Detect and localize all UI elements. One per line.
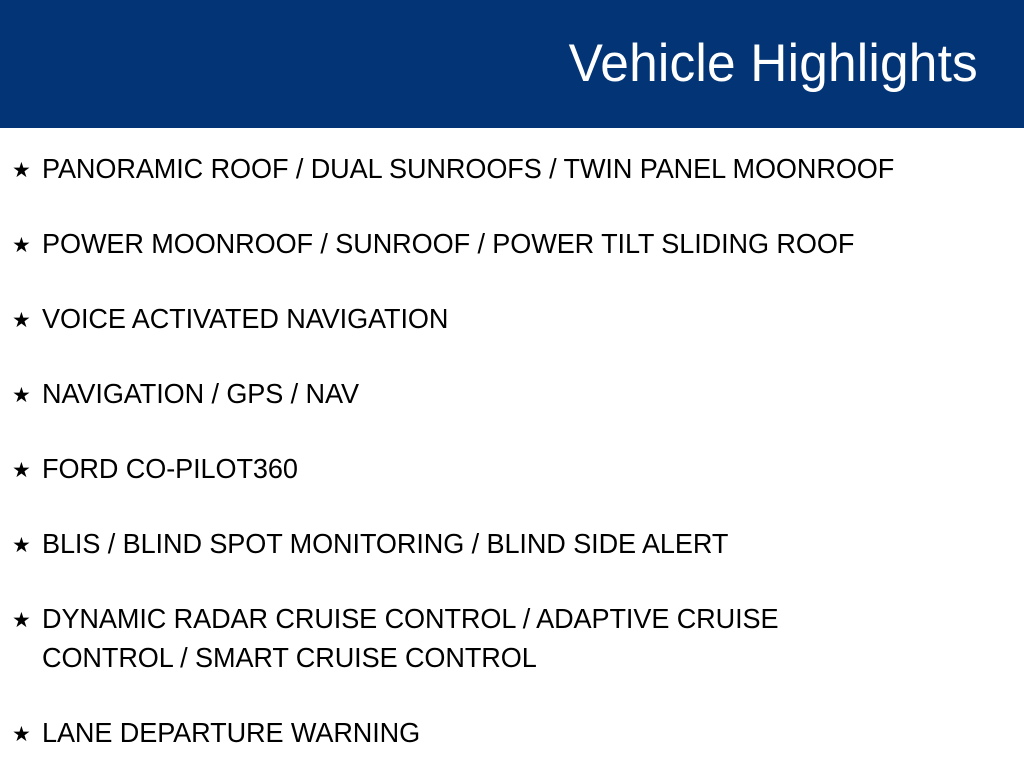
list-item: ★ DYNAMIC RADAR CRUISE CONTROL / ADAPTIV… bbox=[0, 578, 1024, 692]
star-bullet-icon: ★ bbox=[12, 278, 42, 331]
list-item: ★ POWER MOONROOF / SUNROOF / POWER TILT … bbox=[0, 203, 1024, 278]
list-item-label: PANORAMIC ROOF / DUAL SUNROOFS / TWIN PA… bbox=[42, 128, 994, 188]
list-item-label: POWER MOONROOF / SUNROOF / POWER TILT SL… bbox=[42, 203, 994, 263]
list-item: ★ FORD CO-PILOT360 bbox=[0, 428, 1024, 503]
vehicle-highlights-slide: Vehicle Highlights ★ PANORAMIC ROOF / DU… bbox=[0, 0, 1024, 768]
list-item: ★ NAVIGATION / GPS / NAV bbox=[0, 353, 1024, 428]
star-bullet-icon: ★ bbox=[12, 578, 42, 631]
star-bullet-icon: ★ bbox=[12, 428, 42, 481]
list-item-label: BLIS / BLIND SPOT MONITORING / BLIND SID… bbox=[42, 503, 994, 563]
list-item-label: DYNAMIC RADAR CRUISE CONTROL / ADAPTIVE … bbox=[42, 578, 994, 677]
star-bullet-icon: ★ bbox=[12, 128, 42, 181]
list-item: ★ PANORAMIC ROOF / DUAL SUNROOFS / TWIN … bbox=[0, 128, 1024, 203]
star-bullet-icon: ★ bbox=[12, 353, 42, 406]
list-item: ★ BLIS / BLIND SPOT MONITORING / BLIND S… bbox=[0, 503, 1024, 578]
page-title: Vehicle Highlights bbox=[569, 36, 978, 92]
star-bullet-icon: ★ bbox=[12, 692, 42, 745]
list-item: ★ VOICE ACTIVATED NAVIGATION bbox=[0, 278, 1024, 353]
star-bullet-icon: ★ bbox=[12, 503, 42, 556]
list-item-label: NAVIGATION / GPS / NAV bbox=[42, 353, 994, 413]
list-item: ★ LANE DEPARTURE WARNING bbox=[0, 692, 1024, 767]
list-item-label: VOICE ACTIVATED NAVIGATION bbox=[42, 278, 994, 338]
list-item-label: LANE DEPARTURE WARNING bbox=[42, 692, 994, 752]
star-bullet-icon: ★ bbox=[12, 203, 42, 256]
list-item-label: FORD CO-PILOT360 bbox=[42, 428, 994, 488]
vehicle-highlights-list: ★ PANORAMIC ROOF / DUAL SUNROOFS / TWIN … bbox=[0, 128, 1024, 768]
header-banner: Vehicle Highlights bbox=[0, 0, 1024, 128]
